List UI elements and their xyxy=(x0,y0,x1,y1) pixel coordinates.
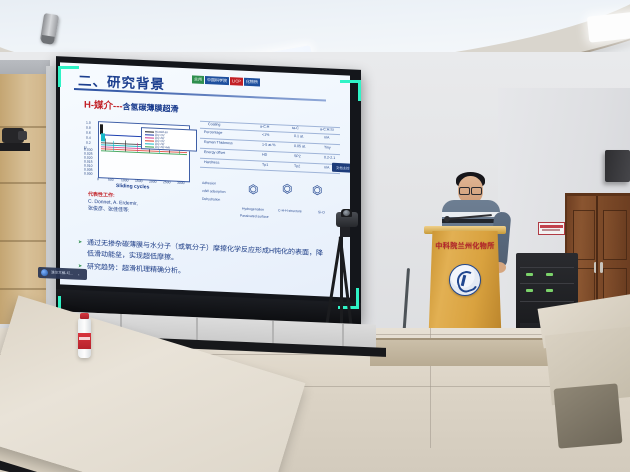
slide-subtitle-sub: 含氢碳薄膜超滑 xyxy=(123,102,179,114)
chart-ytick: 0.6 xyxy=(86,131,91,135)
molecule-diagrams: Adhesion vdW adsorption Dehydration ⏣ ⏣ … xyxy=(200,175,342,227)
chart-xtick: 2500 xyxy=(163,180,171,184)
chart-legend: Humid air Dry O2 Dry N2 Dry O2 Dry H2 Dr… xyxy=(141,127,197,152)
molecule-caption: Si-O xyxy=(318,210,325,214)
slide-side-tab[interactable]: 文档主控 / 中国科学院 xyxy=(332,163,350,173)
table-row-label: Percentage xyxy=(204,130,222,135)
table-cell: 1-5 at.% xyxy=(262,143,275,148)
frame-corner-marker-top-left xyxy=(58,66,79,87)
table-cell: HD xyxy=(262,153,267,157)
badge-item: 中国科学院 xyxy=(205,76,229,85)
badge-item: 化物所 xyxy=(244,78,260,87)
molecule-label: vdW adsorption xyxy=(202,189,226,194)
table-cell: SP2 xyxy=(294,154,301,158)
ceiling-light-panel xyxy=(587,11,630,42)
molecule-structure-icon: ⏣ xyxy=(248,183,258,195)
molecule-caption: Hydrogenation xyxy=(242,207,264,212)
molecule-label: Adhesion xyxy=(202,181,216,186)
table-cell: Tp2 xyxy=(294,164,300,168)
wall-speaker-icon xyxy=(605,150,630,182)
podium-label: 中科院兰州化物所 xyxy=(431,241,499,251)
table-header: a-C:H:Si xyxy=(320,127,334,132)
slide-subtitle: H-媒介---含氢碳薄膜超滑 xyxy=(84,97,179,115)
table-cell: Tiny xyxy=(324,145,331,149)
bottle-label xyxy=(78,333,91,349)
table-cell: 0.1 at. xyxy=(294,134,304,138)
desktop-taskbar[interactable]: 演示文稿-幻... ‹ xyxy=(38,267,87,280)
chair-right xyxy=(554,383,623,448)
chart-xtick: 500 xyxy=(108,178,114,182)
table-header: Coating xyxy=(208,122,220,127)
molecule-structure-icon: ⏣ xyxy=(282,182,292,194)
side-tab-label: 文档主控 / 中国科学院 xyxy=(336,165,350,172)
chevron-left-icon[interactable]: ‹ xyxy=(78,272,79,277)
wall-notice-sign xyxy=(538,222,565,235)
chart-plot-area: Humid air Dry O2 Dry N2 Dry O2 Dry H2 Dr… xyxy=(98,121,190,182)
friction-chart: μ Humid air xyxy=(84,119,192,196)
chart-ytick: 0.4 xyxy=(86,136,91,140)
taskbar-app-label[interactable]: 演示文稿-幻... xyxy=(51,270,73,276)
table-header: ta-C xyxy=(292,126,299,130)
frame-corner-marker-top-right xyxy=(340,80,361,101)
table-cell: <1% xyxy=(262,133,269,137)
conference-room-photo: 二、研究背景 兰州 中国科学院 LICP 化物所 H-媒介---含氢碳薄膜超滑 … xyxy=(0,0,630,472)
table-row-label: Raman Thickness xyxy=(204,140,233,145)
table-cell: n/A xyxy=(324,135,329,139)
start-orb-icon[interactable] xyxy=(41,269,48,276)
tripod-head xyxy=(340,227,350,237)
table-row-label: Hardness xyxy=(204,160,219,165)
slide-data-table: Coating a-C:H ta-C a-C:H:Si Percentage <… xyxy=(200,121,340,175)
molecule-caption: Passivated surface xyxy=(240,214,269,219)
eyeglasses-icon xyxy=(459,187,482,193)
institute-emblem-icon xyxy=(449,264,481,296)
legend-label: Dry N2+He xyxy=(155,145,170,150)
molecule-caption: C-H-H structure xyxy=(278,208,302,213)
table-row-label: Energy offset xyxy=(204,150,225,155)
badge-item: LICP xyxy=(230,77,243,86)
molecule-label: Dehydration xyxy=(202,197,220,202)
table-cell: n/A xyxy=(324,165,329,169)
table-cell: 0.05 at. xyxy=(294,144,306,149)
chart-xlabel: Sliding cycles xyxy=(116,183,149,191)
slide-bullets: 通过无掺杂碳薄膜与水分子（或氧分子）摩擦化学反应形成H钝化的表面，降低滑动能垒，… xyxy=(78,237,330,285)
badge-item: 兰州 xyxy=(192,75,204,84)
slide-logo-badge: 兰州 中国科学院 LICP 化物所 xyxy=(192,75,260,86)
security-camera-icon xyxy=(2,128,24,143)
table-cell: 0.2-2.1 xyxy=(324,155,335,160)
left-shelf xyxy=(0,143,30,151)
bottle-cap xyxy=(80,313,89,319)
caption-line-1: 代表性工作: xyxy=(88,192,115,199)
molecule-structure-icon: ⏣ xyxy=(312,184,322,196)
slide-subtitle-main: H-媒介 xyxy=(84,100,113,112)
chart-ytick: 0.000 xyxy=(84,172,93,176)
chart-xtick: 1500 xyxy=(135,179,143,183)
slide-subtitle-dash: --- xyxy=(113,101,123,112)
chart-ytick: 0.2 xyxy=(86,141,91,145)
chart-xtick: 0 xyxy=(97,177,99,181)
presentation-slide: 二、研究背景 兰州 中国科学院 LICP 化物所 H-媒介---含氢碳薄膜超滑 … xyxy=(60,62,350,297)
chart-xtick: 2000 xyxy=(149,179,157,183)
chart-xtick: 3000 xyxy=(177,181,185,185)
chart-ytick: 0.8 xyxy=(86,126,91,130)
table-header: a-C:H xyxy=(260,124,269,128)
camera-lens-icon xyxy=(341,209,352,217)
table-cell: Tp1 xyxy=(262,163,268,167)
chart-caption: 代表性工作: C. Donnet, A. Erdemir, 张俊彦、张佳佳等: xyxy=(88,192,138,215)
chart-xtick: 1000 xyxy=(121,178,129,182)
chart-ytick: 1.0 xyxy=(86,121,91,125)
